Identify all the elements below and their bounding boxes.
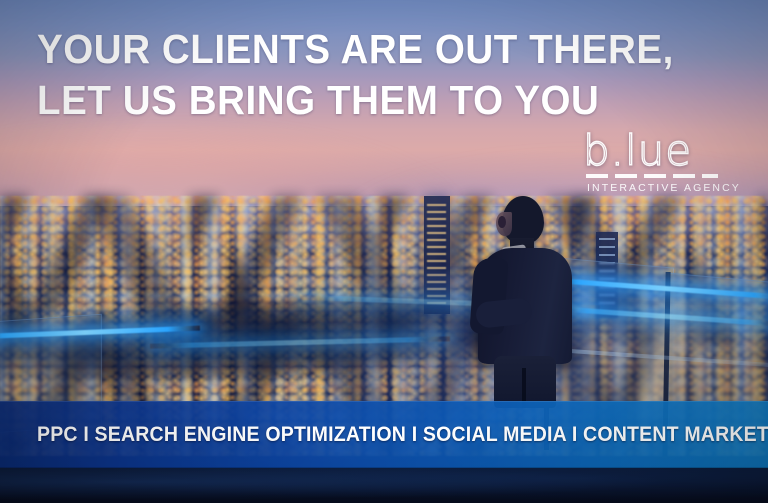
headline-line-2: LET US BRING THEM TO YOU [37,75,695,126]
logo-dash-rule [586,174,718,178]
services-bar-text: PPC I SEARCH ENGINE OPTIMIZATION I SOCIA… [37,423,768,447]
logo-wordmark: b.lue [583,130,723,172]
bottom-strip [0,468,768,503]
marketing-banner: YOUR CLIENTS ARE OUT THERE, LET US BRING… [0,0,768,503]
ear [498,216,506,228]
logo-tagline: INTERACTIVE AGENCY [587,182,741,194]
page-title: YOUR CLIENTS ARE OUT THERE, LET US BRING… [37,24,695,126]
headline-line-1: YOUR CLIENTS ARE OUT THERE, [37,24,695,75]
brand-logo[interactable]: b.lue INTERACTIVE AGENCY [583,130,723,192]
businessman-silhouette [472,196,582,408]
services-bar: PPC I SEARCH ENGINE OPTIMIZATION I SOCIA… [0,401,768,468]
